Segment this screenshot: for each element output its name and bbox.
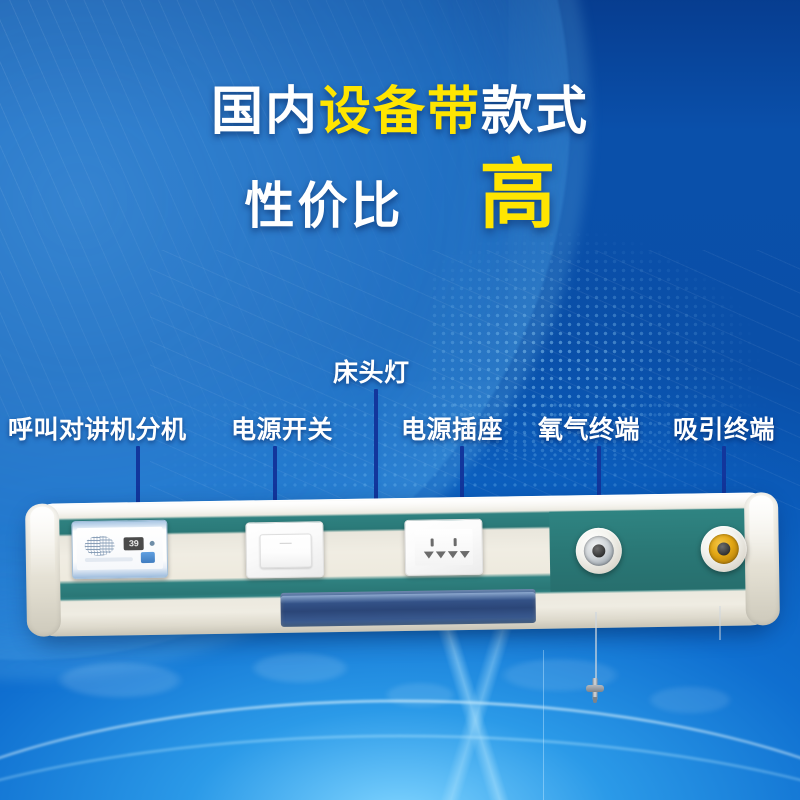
suction-cord — [719, 606, 721, 640]
socket-pin-1 — [424, 552, 434, 559]
probe-tip — [593, 697, 597, 703]
panel-end-cap-right-sheen — [749, 495, 775, 622]
panel-end-cap-left-sheen — [30, 506, 56, 633]
socket-pin-right-upper — [454, 538, 457, 546]
bed-head-unit-panel: 39 — [29, 492, 776, 637]
socket-pin-4 — [460, 551, 470, 558]
pull-cord-probe[interactable] — [586, 678, 604, 700]
power-socket-faceplate — [414, 529, 473, 566]
nurse-call-intercom[interactable]: 39 — [71, 520, 168, 580]
callout-label-bed-lamp: 床头灯 — [333, 361, 410, 386]
callout-label-power-switch: 电源开关 — [231, 418, 333, 443]
socket-pin-3 — [448, 551, 458, 558]
power-switch-rocker[interactable] — [260, 533, 313, 568]
callout-label-intercom: 呼叫对讲机分机 — [8, 418, 187, 443]
probe-wing — [586, 685, 604, 692]
panel-end-cap-left — [25, 503, 61, 637]
callout-layer: 呼叫对讲机分机 电源开关 床头灯 电源插座 氧气终端 吸引终端 — [0, 0, 800, 800]
socket-pin-2 — [436, 551, 446, 558]
indicator-led-icon — [150, 541, 155, 546]
call-button-icon[interactable] — [141, 552, 155, 563]
intercom-display: 39 — [124, 537, 144, 550]
intercom-mic-slot — [85, 557, 133, 562]
power-switch[interactable] — [245, 521, 324, 578]
suction-terminal-port — [717, 542, 730, 555]
socket-pin-left-upper — [431, 539, 434, 547]
power-socket[interactable] — [404, 519, 483, 576]
panel-end-cap-right — [744, 492, 780, 626]
callout-label-oxygen: 氧气终端 — [538, 418, 640, 443]
pull-cord[interactable] — [595, 612, 597, 684]
power-switch-mark — [280, 543, 292, 544]
callout-label-suction: 吸引终端 — [673, 418, 775, 443]
speaker-grille-icon — [85, 536, 115, 556]
callout-label-power-socket: 电源插座 — [401, 418, 503, 443]
intercom-faceplate: 39 — [76, 527, 163, 570]
